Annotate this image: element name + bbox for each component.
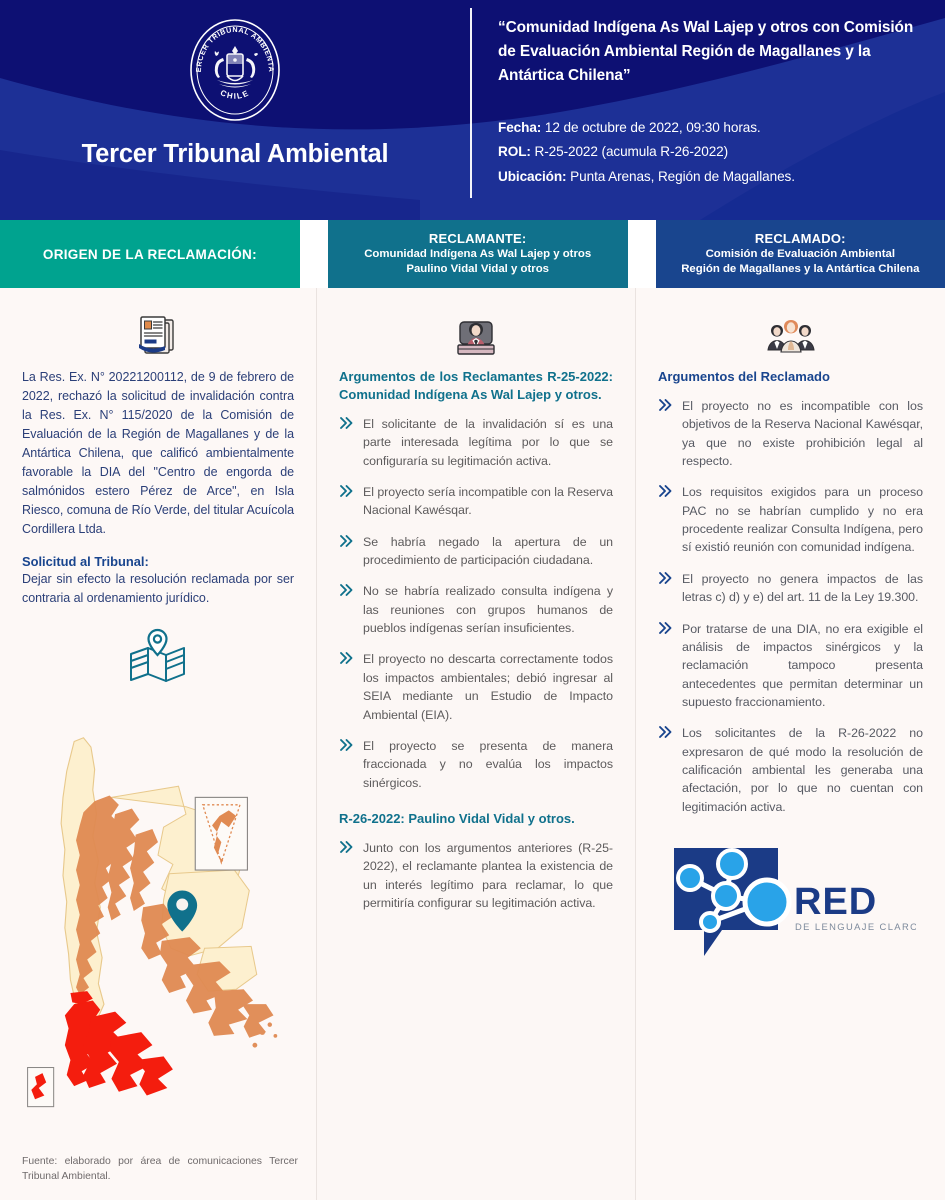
- double-chevron-right-icon: [339, 737, 354, 792]
- column-header-claimant-sub2: Paulino Vidal Vidal y otros: [364, 262, 591, 277]
- list-item: El proyecto no genera impactos de las le…: [658, 570, 923, 607]
- case-meta-rol-value: R-25-2022 (acumula R-26-2022): [531, 144, 728, 159]
- header-banner: TERCER TRIBUNAL AMBIENTAL: [0, 0, 945, 220]
- red-logo-tagline: DE LENGUAJE CLARO CHILE: [795, 921, 916, 932]
- claimant-second-bullet-list: Junto con los argumentos anteriores (R-2…: [339, 839, 613, 912]
- columns-body: La Res. Ex. N° 20221200112, de 9 de febr…: [0, 288, 945, 1200]
- double-chevron-right-icon: [658, 620, 673, 712]
- double-chevron-right-icon: [339, 533, 354, 570]
- column-header-respondent: RECLAMADO: Comisión de Evaluación Ambien…: [656, 220, 945, 288]
- case-info-block: “Comunidad Indígena As Wal Lajep y otros…: [470, 0, 945, 220]
- column-header-origin: ORIGEN DE LA RECLAMACIÓN:: [0, 220, 300, 288]
- svg-text:CHILE: CHILE: [219, 88, 251, 101]
- column-origin: La Res. Ex. N° 20221200112, de 9 de febr…: [0, 288, 316, 1200]
- case-title: “Comunidad Indígena As Wal Lajep y otros…: [498, 16, 918, 88]
- list-item-text: El proyecto no es incompatible con los o…: [682, 397, 923, 470]
- list-item-text: Los solicitantes de la R-26-2022 no expr…: [682, 724, 923, 816]
- claimant-icon-wrap: [339, 316, 613, 356]
- people-group-icon: [765, 316, 817, 354]
- red-logo-svg: RED DE LENGUAJE CLARO CHILE: [666, 844, 916, 962]
- column-header-respondent-sub1: Comisión de Evaluación Ambiental: [681, 247, 919, 262]
- double-chevron-right-icon: [658, 724, 673, 816]
- origin-paragraph: La Res. Ex. N° 20221200112, de 9 de febr…: [22, 368, 294, 539]
- column-gap-2: [628, 220, 656, 288]
- double-chevron-right-icon: [339, 415, 354, 470]
- double-chevron-right-icon: [339, 483, 354, 520]
- case-meta-rol-label: ROL:: [498, 144, 531, 159]
- list-item: El proyecto no descarta correctamente to…: [339, 650, 613, 723]
- origin-icon-wrap: [22, 316, 294, 356]
- respondent-arguments-title: Argumentos del Reclamado: [658, 368, 923, 386]
- origin-request-text: Dejar sin efecto la resolución reclamada…: [22, 570, 294, 608]
- list-item-text: No se habría realizado consulta indígena…: [363, 582, 613, 637]
- list-item: El proyecto sería incompatible con la Re…: [339, 483, 613, 520]
- column-header-origin-title: ORIGEN DE LA RECLAMACIÓN:: [43, 247, 257, 262]
- case-meta-list: Fecha: 12 de octubre de 2022, 09:30 hora…: [498, 116, 923, 190]
- list-item-text: El proyecto se presenta de manera fracci…: [363, 737, 613, 792]
- case-meta-rol: ROL: R-25-2022 (acumula R-26-2022): [498, 140, 923, 165]
- double-chevron-right-icon: [339, 839, 354, 912]
- red-lenguaje-claro-logo: RED DE LENGUAJE CLARO CHILE: [658, 844, 923, 962]
- case-meta-ubicacion-value: Punta Arenas, Región de Magallanes.: [567, 169, 795, 184]
- folded-map-pin-icon: [128, 628, 188, 684]
- brand-title: Tercer Tribunal Ambiental: [0, 140, 470, 169]
- map-icon-wrap: [22, 628, 294, 684]
- chile-map-wrap: [22, 710, 294, 1140]
- column-header-claimant-sub1: Comunidad Indígena As Wal Lajep y otros: [364, 247, 591, 262]
- claimant-bullet-list: El solicitante de la invalidación sí es …: [339, 415, 613, 792]
- list-item-text: El proyecto no genera impactos de las le…: [682, 570, 923, 607]
- red-logo-name: RED: [794, 881, 877, 923]
- list-item: El solicitante de la invalidación sí es …: [339, 415, 613, 470]
- column-gap-1: [300, 220, 328, 288]
- judge-person-icon: [455, 316, 497, 356]
- tribunal-crest-logo: TERCER TRIBUNAL AMBIENTAL: [187, 18, 283, 122]
- respondent-bullet-list: El proyecto no es incompatible con los o…: [658, 397, 923, 816]
- list-item: El proyecto se presenta de manera fracci…: [339, 737, 613, 792]
- case-meta-fecha-value: 12 de octubre de 2022, 09:30 horas.: [541, 120, 760, 135]
- column-header-claimant: RECLAMANTE: Comunidad Indígena As Wal La…: [328, 220, 628, 288]
- claimant-second-title: R-26-2022: Paulino Vidal Vidal y otros.: [339, 810, 613, 828]
- list-item: Los requisitos exigidos para un proceso …: [658, 483, 923, 556]
- double-chevron-right-icon: [339, 582, 354, 637]
- list-item: Por tratarse de una DIA, no era exigible…: [658, 620, 923, 712]
- column-header-claimant-title: RECLAMANTE:: [364, 231, 591, 247]
- infographic-page: TERCER TRIBUNAL AMBIENTAL: [0, 0, 945, 1200]
- list-item-text: Los requisitos exigidos para un proceso …: [682, 483, 923, 556]
- source-note: Fuente: elaborado por área de comunicaci…: [22, 1154, 298, 1184]
- column-headers-row: ORIGEN DE LA RECLAMACIÓN: RECLAMANTE: Co…: [0, 220, 945, 288]
- list-item: Se habría negado la apertura de un proce…: [339, 533, 613, 570]
- column-claimant: Argumentos de los Reclamantes R-25-2022:…: [316, 288, 636, 1200]
- case-meta-ubicacion: Ubicación: Punta Arenas, Región de Magal…: [498, 165, 923, 190]
- case-meta-fecha-label: Fecha:: [498, 120, 541, 135]
- respondent-icon-wrap: [658, 316, 923, 356]
- documents-icon: [137, 316, 179, 356]
- double-chevron-right-icon: [658, 483, 673, 556]
- list-item: Los solicitantes de la R-26-2022 no expr…: [658, 724, 923, 816]
- double-chevron-right-icon: [658, 397, 673, 470]
- origin-request-heading: Solicitud al Tribunal:: [22, 554, 294, 569]
- column-respondent: Argumentos del Reclamado El proyecto no …: [636, 288, 945, 1200]
- column-header-respondent-title: RECLAMADO:: [681, 231, 919, 247]
- list-item: No se habría realizado consulta indígena…: [339, 582, 613, 637]
- case-meta-fecha: Fecha: 12 de octubre de 2022, 09:30 hora…: [498, 116, 923, 141]
- claimant-arguments-title: Argumentos de los Reclamantes R-25-2022:…: [339, 368, 613, 404]
- list-item-text: Se habría negado la apertura de un proce…: [363, 533, 613, 570]
- list-item-text: El solicitante de la invalidación sí es …: [363, 415, 613, 470]
- list-item-text: Junto con los argumentos anteriores (R-2…: [363, 839, 613, 912]
- header-vertical-divider: [470, 8, 472, 198]
- list-item: El proyecto no es incompatible con los o…: [658, 397, 923, 470]
- list-item-text: El proyecto sería incompatible con la Re…: [363, 483, 613, 520]
- case-meta-ubicacion-label: Ubicación:: [498, 169, 567, 184]
- list-item-text: El proyecto no descarta correctamente to…: [363, 650, 613, 723]
- double-chevron-right-icon: [658, 570, 673, 607]
- list-item: Junto con los argumentos anteriores (R-2…: [339, 839, 613, 912]
- list-item-text: Por tratarse de una DIA, no era exigible…: [682, 620, 923, 712]
- brand-block: TERCER TRIBUNAL AMBIENTAL: [0, 0, 470, 220]
- double-chevron-right-icon: [339, 650, 354, 723]
- chile-magallanes-map: [22, 710, 294, 1140]
- column-header-respondent-sub2: Región de Magallanes y la Antártica Chil…: [681, 262, 919, 277]
